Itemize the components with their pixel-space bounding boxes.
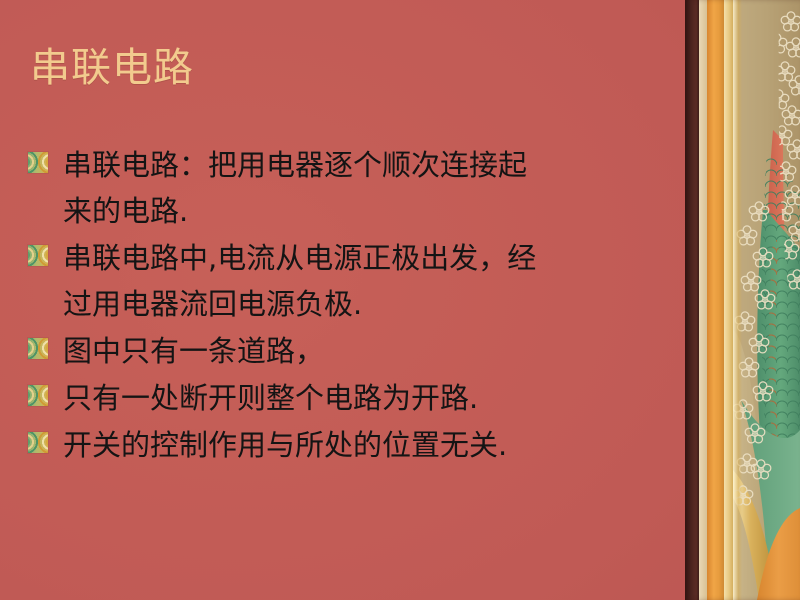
ornament-square-bullet-icon xyxy=(28,432,48,453)
border-stripe-maroon xyxy=(685,0,699,600)
bullet-line-1: 开关的控制作用与所处的位置无关. xyxy=(63,428,507,462)
list-item[interactable]: 图中只有一条道路， xyxy=(28,328,670,374)
bullet-line-1: 只有一处断开则整个电路为开路. xyxy=(63,381,478,415)
bullet-text: 只有一处断开则整个电路为开路. xyxy=(63,375,670,421)
bullet-line-1: 图中只有一条道路， xyxy=(63,334,324,368)
flowers-upper xyxy=(767,12,800,289)
bullet-text: 串联电路中,电流从电源正极出发，经过用电器流回电源负极. xyxy=(63,235,670,327)
bullet-line-2: 来的电路. xyxy=(63,188,670,234)
bullet-line-1: 串联电路：把用电器逐个顺次连接起 xyxy=(63,148,527,182)
bullet-line-1: 串联电路中,电流从电源正极出发，经 xyxy=(63,241,536,275)
ornament-square-bullet-icon xyxy=(28,338,48,359)
flower-pattern xyxy=(733,0,800,600)
bullet-text: 图中只有一条道路， xyxy=(63,328,670,374)
ornament-square-bullet-icon xyxy=(28,245,48,266)
bullet-list: 串联电路：把用电器逐个顺次连接起来的电路. 串联电路中,电流从电源正极出发，经过… xyxy=(28,142,670,469)
ornament-square-bullet-icon xyxy=(28,385,48,406)
border-stripe-orange xyxy=(707,0,724,600)
list-item[interactable]: 开关的控制作用与所处的位置无关. xyxy=(28,422,670,468)
border-inner-gold-sheen xyxy=(733,0,742,600)
border-stripe-cream xyxy=(699,0,707,600)
bullet-text: 开关的控制作用与所处的位置无关. xyxy=(63,422,670,468)
decorative-border xyxy=(685,0,800,600)
ornament-square-bullet-icon xyxy=(28,152,48,173)
list-item[interactable]: 串联电路：把用电器逐个顺次连接起来的电路. xyxy=(28,142,670,234)
bullet-line-2: 过用电器流回电源负极. xyxy=(63,281,670,327)
slide-title: 串联电路 xyxy=(30,46,194,90)
list-item[interactable]: 只有一处断开则整个电路为开路. xyxy=(28,375,670,421)
bullet-text: 串联电路：把用电器逐个顺次连接起来的电路. xyxy=(63,142,670,234)
presentation-slide: 串联电路 串联电路：把用电器逐个顺次连接起来的电路. 串联电路中,电流从电源正极… xyxy=(0,0,800,600)
list-item[interactable]: 串联电路中,电流从电源正极出发，经过用电器流回电源负极. xyxy=(28,235,670,327)
